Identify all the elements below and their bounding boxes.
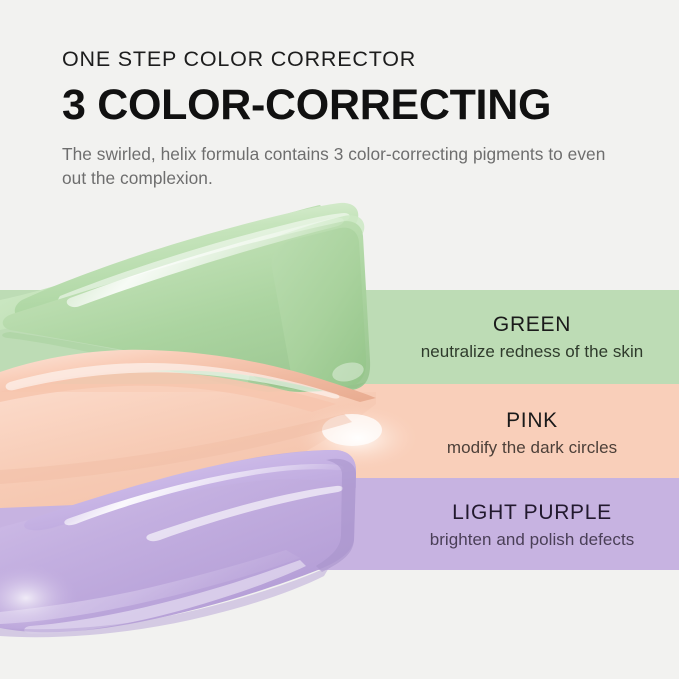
band-title-green: GREEN (385, 313, 679, 337)
header-text-block: ONE STEP COLOR CORRECTOR 3 COLOR-CORRECT… (62, 48, 622, 191)
band-title-light-purple: LIGHT PURPLE (385, 501, 679, 525)
color-band-pink: PINK modify the dark circles (0, 384, 679, 478)
band-label-light-purple: LIGHT PURPLE brighten and polish defects (385, 501, 679, 551)
eyebrow-text: ONE STEP COLOR CORRECTOR (62, 48, 622, 72)
band-description-light-purple: brighten and polish defects (385, 529, 679, 551)
color-band-green: GREEN neutralize redness of the skin (0, 290, 679, 384)
product-infographic: ONE STEP COLOR CORRECTOR 3 COLOR-CORRECT… (0, 0, 679, 679)
band-description-pink: modify the dark circles (385, 437, 679, 459)
description-text: The swirled, helix formula contains 3 co… (62, 142, 622, 191)
page-title: 3 COLOR-CORRECTING (62, 81, 622, 129)
band-label-pink: PINK modify the dark circles (385, 409, 679, 459)
band-description-green: neutralize redness of the skin (385, 341, 679, 363)
band-title-pink: PINK (385, 409, 679, 433)
color-band-light-purple: LIGHT PURPLE brighten and polish defects (0, 478, 679, 570)
color-band-stack: GREEN neutralize redness of the skin PIN… (0, 290, 679, 570)
band-label-green: GREEN neutralize redness of the skin (385, 313, 679, 363)
